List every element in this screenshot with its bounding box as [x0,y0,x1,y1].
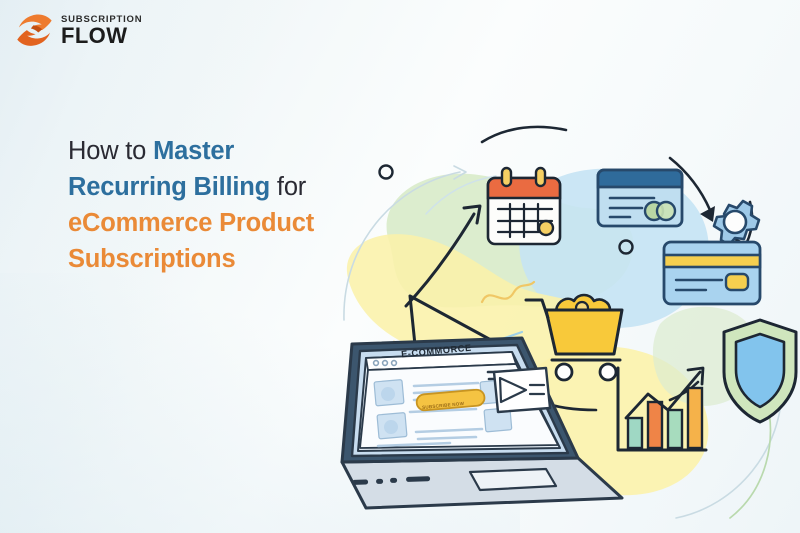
headline-line2-plain: for [270,173,306,201]
headline-line4-accent: Subscriptions [68,245,235,273]
cursor-card-icon [494,368,550,412]
chart-bar-1 [628,418,642,448]
credit-card-chip-icon [664,242,760,304]
deco-circle-left [380,166,393,179]
calendar-icon [488,168,560,244]
headline-line1-plain: How to [68,137,153,165]
cart-wheel-left [556,364,572,380]
chart-bar-2 [648,402,662,448]
laptop-trackpad [470,469,556,490]
headline-line1-accent: Master [153,137,234,165]
headline-line3-accent: eCommerce Product [68,209,314,237]
shield-icon [724,320,796,422]
chart-bar-4 [688,388,702,448]
cart-basket [546,310,622,354]
cart-wheel-right [600,364,616,380]
page-title: How to Master Recurring Billing for eCom… [68,133,368,277]
subscriptionflow-s-swoosh-icon [14,12,54,50]
arrow-calendar-to-card [482,127,566,142]
gear-icon [714,201,759,245]
brand-wordmark: SUBSCRIPTION FLOW [61,15,142,48]
headline-line2-accent: Recurring Billing [68,173,270,201]
credit-card-icon [598,170,682,226]
brand-logo[interactable]: SUBSCRIPTION FLOW [14,12,142,50]
banner-root: SUBSCRIPTION FLOW How to Master Recurrin… [0,0,800,533]
brand-word-flow: FLOW [61,25,142,47]
hero-illustration: E-COMMORCE SUBSCRIBE NOW [330,110,800,533]
chart-bar-3 [668,410,682,448]
